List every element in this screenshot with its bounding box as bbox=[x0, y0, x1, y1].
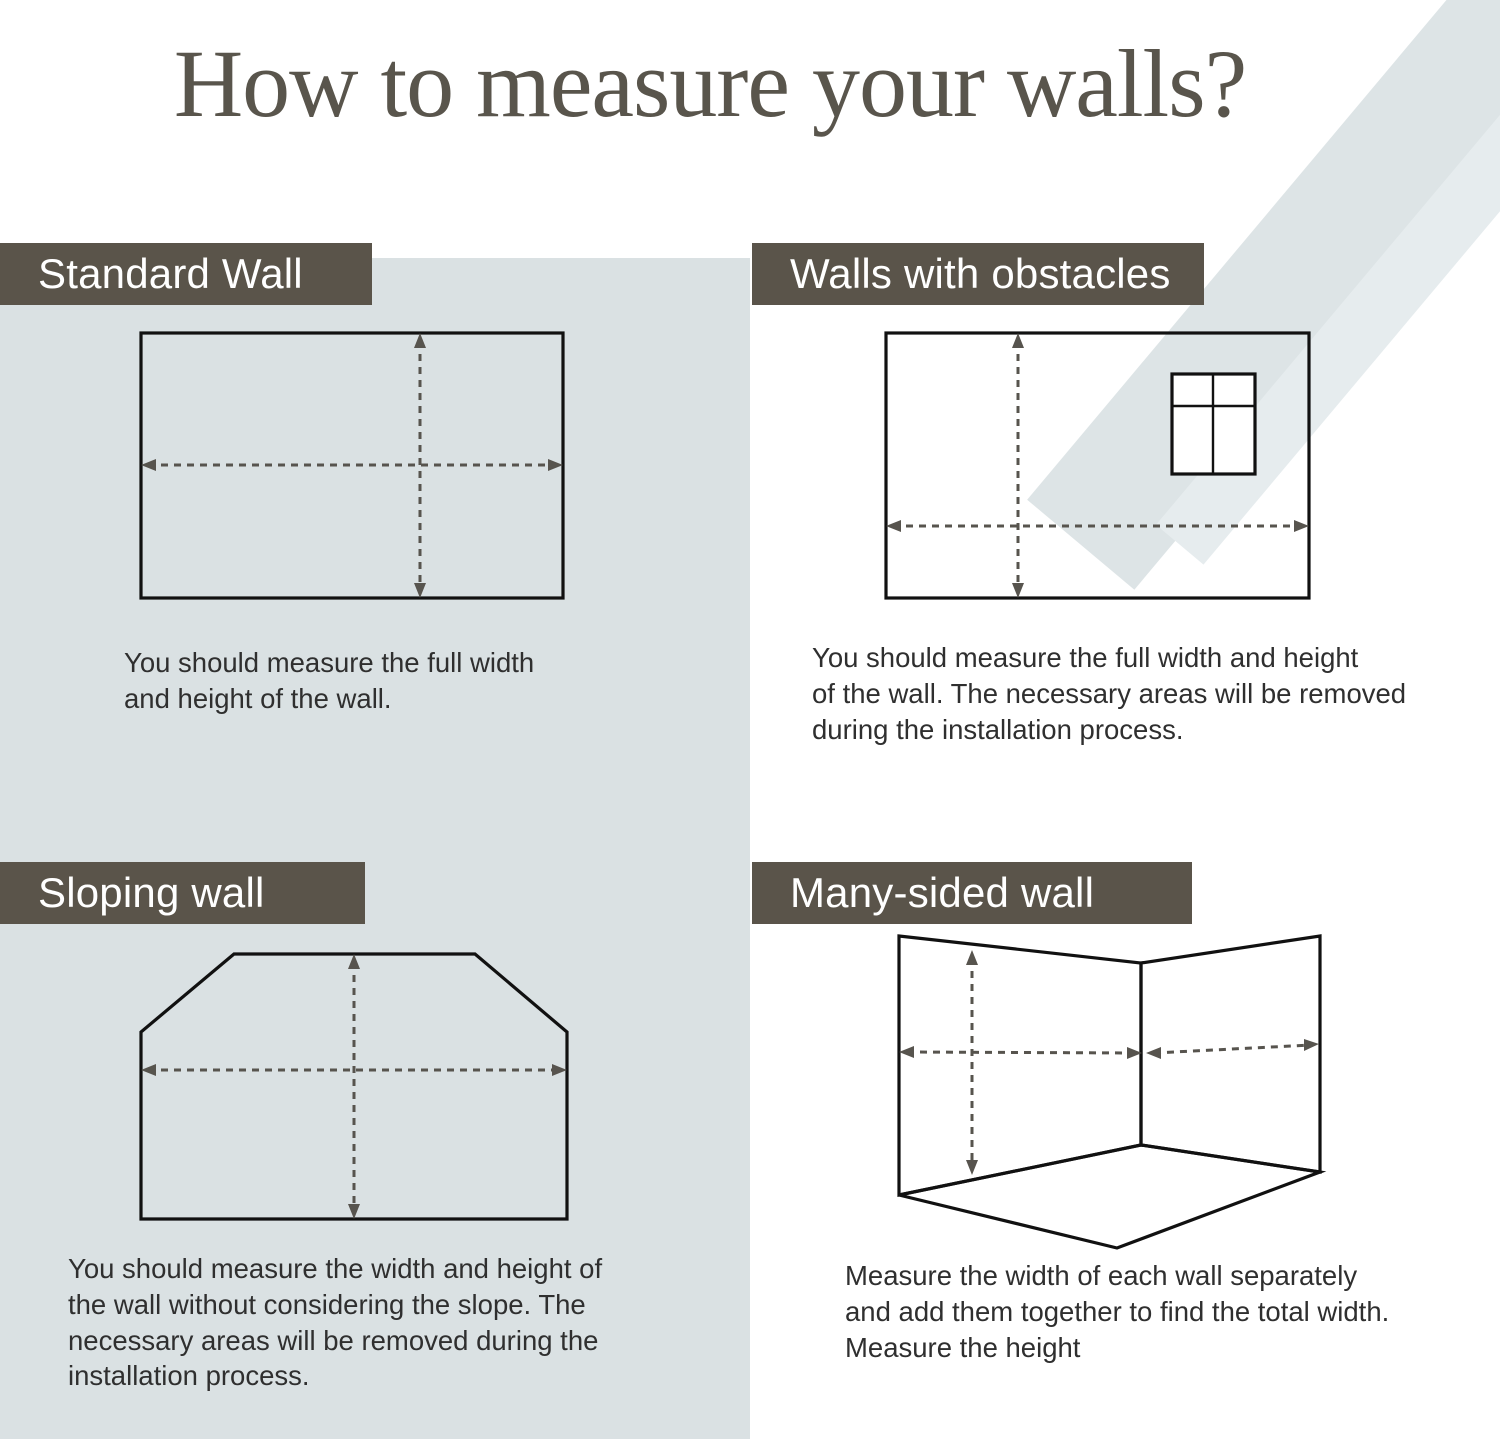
width-arrow-head-left bbox=[886, 520, 901, 532]
window-obstacle bbox=[1172, 374, 1255, 474]
caption-walls-with-obstacles: You should measure the full width and he… bbox=[812, 640, 1472, 747]
height-arrow-head-bottom bbox=[966, 1160, 978, 1175]
section-header-label: Walls with obstacles bbox=[790, 253, 1171, 295]
height-arrow-head-bottom bbox=[414, 583, 426, 598]
caption-sloping-wall: You should measure the width and height … bbox=[68, 1251, 688, 1394]
section-header-sloping-wall: Sloping wall bbox=[0, 862, 365, 924]
right-wall-width-arrow-head-left bbox=[1146, 1047, 1161, 1059]
caption-many-sided-wall: Measure the width of each wall separatel… bbox=[845, 1258, 1465, 1365]
right-wall-width-dimension-line bbox=[1154, 1045, 1311, 1053]
height-arrow-head-top bbox=[348, 954, 360, 969]
left-wall-width-arrow-head-left bbox=[899, 1046, 914, 1058]
diagram-sloping-wall bbox=[120, 935, 600, 1255]
height-arrow-head-bottom bbox=[1012, 583, 1024, 598]
section-header-walls-with-obstacles: Walls with obstacles bbox=[752, 243, 1204, 305]
section-header-label: Standard Wall bbox=[38, 253, 303, 295]
section-header-label: Many-sided wall bbox=[790, 872, 1094, 914]
caption-standard-wall: You should measure the full width and he… bbox=[124, 645, 724, 717]
section-header-many-sided-wall: Many-sided wall bbox=[752, 862, 1192, 924]
right-wall-face bbox=[1141, 936, 1320, 1172]
page-title: How to measure your walls? bbox=[0, 36, 1420, 132]
section-header-label: Sloping wall bbox=[38, 872, 265, 914]
height-arrow-head-top bbox=[414, 333, 426, 348]
diagram-standard-wall bbox=[120, 320, 590, 620]
section-header-standard-wall: Standard Wall bbox=[0, 243, 372, 305]
height-arrow-head-bottom bbox=[348, 1204, 360, 1219]
width-arrow-head-right bbox=[1294, 520, 1309, 532]
width-arrow-head-left bbox=[141, 1064, 156, 1076]
height-arrow-head-top bbox=[966, 950, 978, 965]
right-wall-width-arrow-head-right bbox=[1304, 1039, 1319, 1051]
width-arrow-head-right bbox=[552, 1064, 567, 1076]
left-wall-face bbox=[899, 936, 1141, 1195]
infographic-canvas: How to measure your walls? Standard Wall… bbox=[0, 0, 1500, 1439]
left-wall-width-dimension-line bbox=[907, 1052, 1134, 1053]
floor-face bbox=[899, 1145, 1320, 1248]
height-arrow-head-top bbox=[1012, 333, 1024, 348]
diagram-wall-with-window bbox=[860, 320, 1340, 620]
diagram-many-sided-wall bbox=[870, 925, 1340, 1265]
width-arrow-head-left bbox=[141, 459, 156, 471]
width-arrow-head-right bbox=[548, 459, 563, 471]
